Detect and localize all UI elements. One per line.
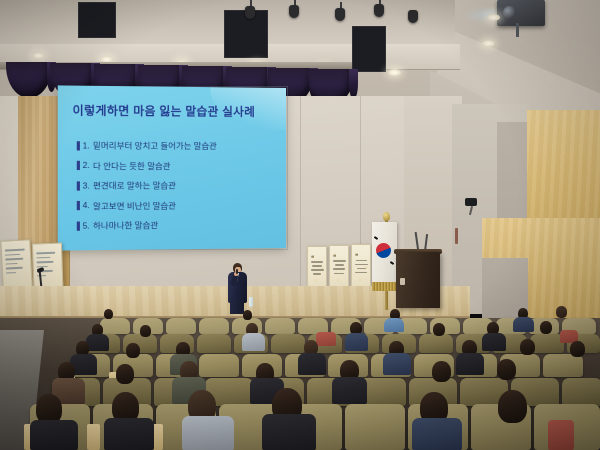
audience-head	[116, 364, 134, 384]
seat[interactable]	[199, 318, 229, 334]
board-line	[5, 262, 17, 264]
trigram-icon	[374, 236, 378, 240]
audience-torso	[182, 416, 234, 450]
board-line	[355, 272, 367, 274]
seat[interactable]	[530, 334, 564, 353]
list-item: 1. 밑머리부터 망치고 들어가는 말습관	[77, 139, 278, 152]
bullet-marker-icon	[77, 201, 80, 210]
lecture-hall-photo: 이렇게하면 마음 잃는 말습관 실사례 1. 밑머리부터 망치고 들어가는 말습…	[0, 0, 600, 450]
board-line	[333, 260, 346, 262]
slide-item-number: 5.	[83, 221, 90, 230]
stage-spotlight	[245, 6, 255, 19]
audience-head	[556, 306, 567, 318]
downlight	[482, 40, 495, 47]
audience-torso	[86, 334, 109, 351]
board-line	[36, 252, 55, 254]
stage-spotlight	[335, 8, 345, 21]
slide-title: 이렇게하면 마음 잃는 말습관 실사례	[73, 102, 278, 120]
wall-seam	[300, 96, 301, 296]
seat-armrest	[87, 424, 100, 450]
seat[interactable]	[100, 318, 130, 334]
south-korean-flag	[372, 222, 397, 284]
slide-item-text: 밑머리부터 망치고 들어가는 말습관	[93, 139, 217, 152]
slide-item-text: 알고보면 비난인 말습관	[93, 199, 176, 212]
audience-head	[498, 390, 527, 423]
audience-head	[243, 310, 252, 320]
audience-head	[140, 325, 151, 337]
audience-torso	[30, 420, 78, 450]
seat[interactable]	[199, 354, 239, 377]
slide-item-text: 하나마나한 말습관	[93, 219, 158, 232]
list-item: 3. 편견대로 말하는 말습관	[77, 179, 278, 192]
audience-head	[540, 321, 552, 334]
projector-mount	[516, 23, 519, 37]
board-line	[334, 273, 344, 275]
audience-torso	[456, 353, 484, 375]
stage-spotlight	[289, 5, 299, 18]
slide-item-text: 다 안다는 듯한 말습관	[93, 159, 171, 171]
bullet-marker-icon	[77, 161, 80, 170]
board-line	[311, 269, 324, 271]
seat[interactable]	[271, 334, 305, 353]
audience-torso	[384, 318, 404, 332]
stage-spotlight	[374, 4, 384, 17]
board-line	[5, 258, 23, 260]
right-wall-wood-upper	[527, 110, 600, 230]
board-line	[5, 249, 25, 252]
board-line	[355, 264, 368, 266]
audience-head	[126, 343, 140, 358]
board-line	[333, 268, 345, 270]
wall-mounted-speaker	[465, 198, 477, 206]
slide-item-number: 4.	[83, 201, 90, 210]
list-item: 5. 하나마나한 말습관	[77, 218, 278, 232]
bullet-marker-icon	[77, 221, 80, 230]
downlight	[388, 69, 401, 76]
board-line	[313, 273, 321, 275]
audience-head	[433, 323, 445, 336]
downlight	[487, 14, 500, 21]
projector-lens-icon	[503, 6, 516, 19]
board-line	[356, 260, 367, 262]
audience-torso	[298, 353, 326, 375]
downlight	[32, 52, 45, 59]
list-item: 4. 알고보면 비난인 말습관	[77, 199, 278, 212]
water-bottle	[249, 297, 253, 307]
board-line	[37, 261, 54, 263]
wall-marker	[455, 228, 458, 244]
seat[interactable]	[543, 354, 583, 377]
audience-torso	[412, 418, 462, 450]
acoustic-panel	[352, 26, 386, 72]
slide-item-number: 3.	[83, 181, 90, 190]
slide-bullet-list: 1. 밑머리부터 망치고 들어가는 말습관 2. 다 안다는 듯한 말습관 3.…	[77, 139, 278, 239]
slide-item-number: 1.	[83, 141, 90, 150]
seat[interactable]	[265, 318, 295, 334]
board-line	[36, 256, 50, 258]
audience-torso	[262, 414, 316, 450]
seat[interactable]	[562, 378, 600, 406]
seat[interactable]	[345, 404, 405, 450]
audience-head	[570, 341, 585, 357]
flag-fringe	[372, 282, 397, 291]
audience-head	[432, 361, 451, 382]
bullet-marker-icon	[77, 141, 80, 150]
seat[interactable]	[166, 318, 196, 334]
bullet-marker-icon	[77, 181, 80, 190]
list-item: 2. 다 안다는 듯한 말습관	[77, 159, 278, 171]
podium-plate	[400, 278, 405, 285]
audience-head	[520, 339, 535, 355]
audience-torso	[242, 333, 265, 351]
board-line	[335, 264, 344, 266]
board-line	[312, 265, 322, 267]
board-line	[357, 268, 366, 270]
board-line	[6, 267, 23, 269]
flag-finial-icon	[383, 212, 390, 221]
board-text-lines	[308, 261, 326, 275]
board-text-lines	[352, 260, 370, 274]
board-line	[6, 272, 16, 274]
slide-item-text: 편견대로 말하는 말습관	[93, 179, 176, 191]
audience-torso	[345, 333, 368, 351]
audience-torso	[482, 333, 506, 351]
audience-torso	[104, 418, 154, 450]
board-line	[5, 253, 20, 255]
seat-red[interactable]	[316, 332, 336, 346]
stage-spotlight	[408, 10, 418, 23]
taeguk-symbol-icon	[376, 243, 391, 258]
seat-red[interactable]	[548, 420, 574, 450]
board-text-lines	[5, 249, 26, 274]
audience-torso	[513, 317, 534, 332]
seat[interactable]	[197, 334, 231, 353]
audience-head	[104, 309, 113, 319]
slide-item-number: 2.	[83, 161, 90, 170]
acoustic-panel	[78, 2, 116, 38]
audience-torso	[383, 353, 411, 375]
projection-screen[interactable]: 이렇게하면 마음 잃는 말습관 실사례 1. 밑머리부터 망치고 들어가는 말습…	[58, 85, 286, 250]
handheld-microphone-icon	[236, 269, 238, 274]
presenter-legs	[230, 300, 244, 314]
trigram-icon	[390, 261, 394, 265]
seat[interactable]	[419, 334, 453, 353]
board-text-lines	[330, 260, 348, 274]
audience-torso	[332, 377, 367, 404]
board-line	[311, 261, 323, 263]
audience-head	[497, 359, 516, 380]
